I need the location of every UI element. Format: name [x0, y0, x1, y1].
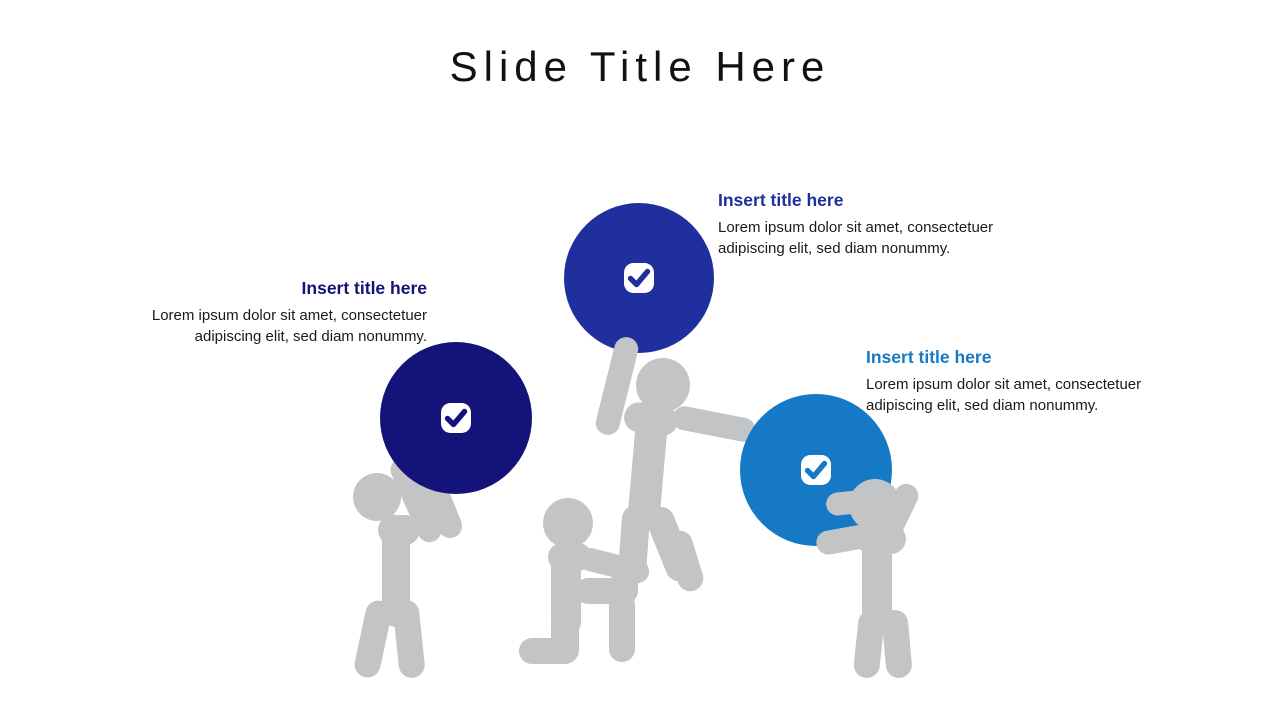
figure-right-holder	[814, 479, 922, 679]
check-badge-icon-right	[801, 455, 831, 485]
callout-top-title: Insert title here	[718, 190, 1028, 212]
callout-right-body: Lorem ipsum dolor sit amet, consectetuer…	[866, 374, 1176, 417]
callout-right-title: Insert title here	[866, 347, 1176, 369]
slide-canvas: Slide Title Here	[0, 0, 1280, 720]
callout-left: Insert title here Lorem ipsum dolor sit …	[110, 278, 427, 347]
callout-top-body: Lorem ipsum dolor sit amet, consectetuer…	[718, 217, 1028, 260]
check-badge-icon-top	[624, 263, 654, 293]
callout-left-body: Lorem ipsum dolor sit amet, consectetuer…	[110, 305, 427, 348]
check-badge-icon-left	[441, 403, 471, 433]
callout-right: Insert title here Lorem ipsum dolor sit …	[866, 347, 1176, 416]
callout-left-title: Insert title here	[110, 278, 427, 300]
callout-top: Insert title here Lorem ipsum dolor sit …	[718, 190, 1028, 259]
